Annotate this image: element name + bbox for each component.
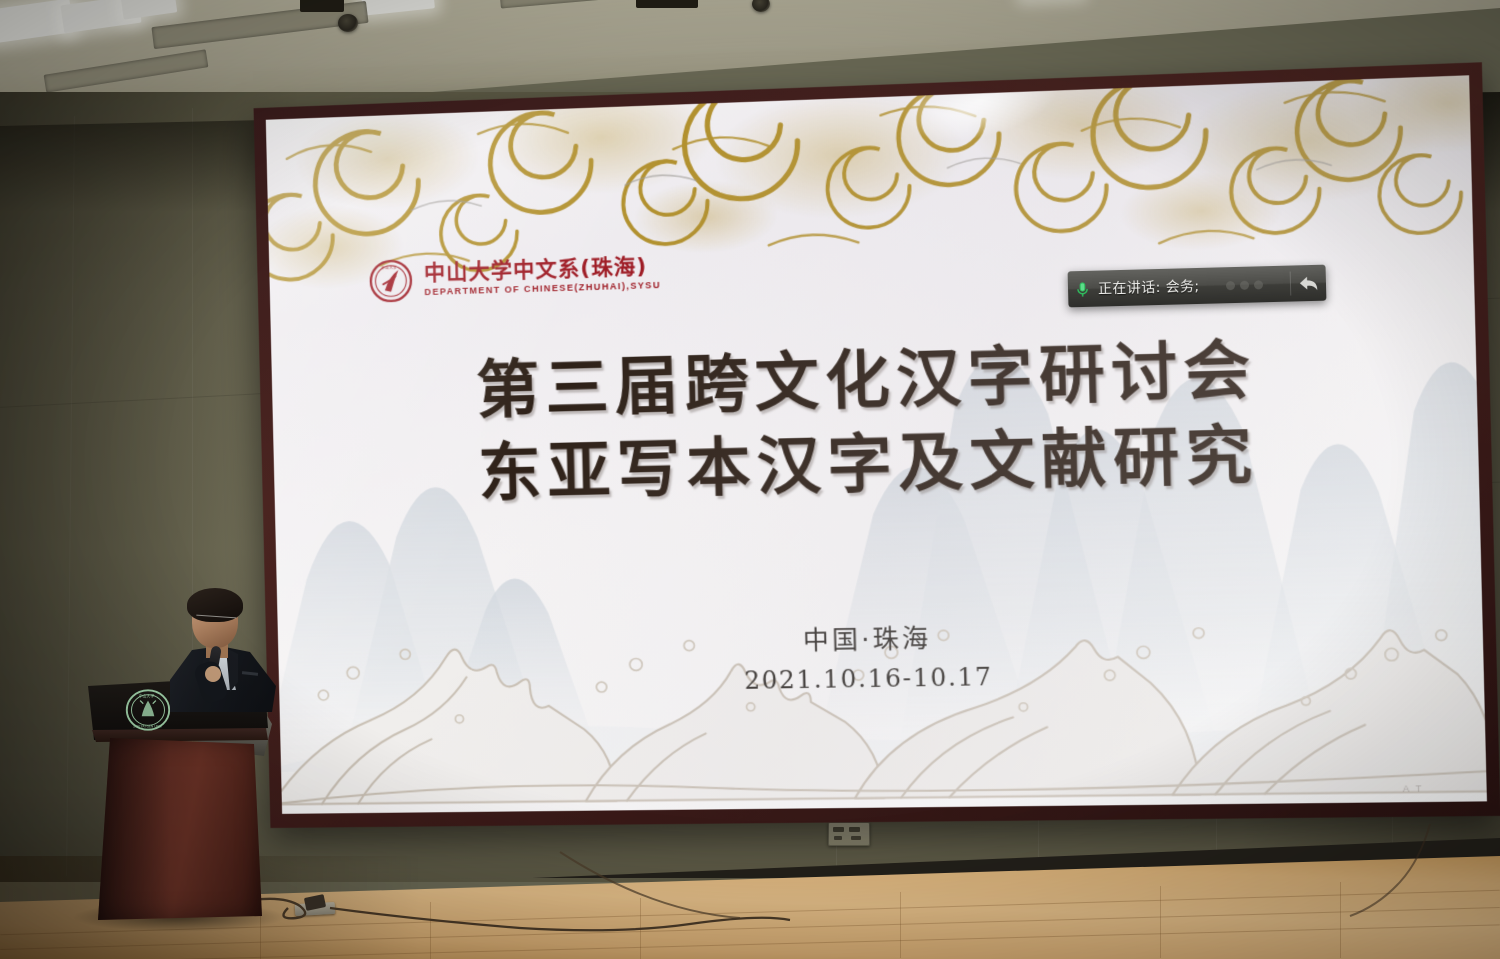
screen-edge-text: A T (1403, 783, 1424, 794)
ceiling-vent (44, 49, 209, 92)
speaking-status-bar[interactable]: 正在讲话: 会务; (1068, 265, 1327, 308)
slide-surface: 中山大学 中山大学中文系(珠海) DEPARTMENT OF CHINESE(Z… (266, 75, 1487, 814)
microphone-icon (1074, 280, 1091, 297)
svg-text:中山大学: 中山大学 (381, 265, 397, 271)
overlay-dots (1206, 279, 1283, 290)
reply-arrow-icon[interactable] (1298, 273, 1321, 294)
ceiling-spotlight (752, 0, 770, 12)
ceiling-vent (500, 0, 651, 9)
ceiling-light (121, 0, 178, 20)
overlay-divider (1290, 272, 1292, 296)
projection-screen: 中山大学 中山大学中文系(珠海) DEPARTMENT OF CHINESE(Z… (254, 62, 1500, 828)
slide-title-block: 第三届跨文化汉字研讨会 东亚写本汉字及文献研究 (271, 322, 1479, 519)
ceiling-recess (636, 0, 698, 8)
ceiling-spotlight (338, 14, 358, 32)
sysu-seal-icon: 中山大学 (367, 257, 414, 305)
slide-logo-cn: 中山大学中文系(珠海) (424, 256, 661, 285)
svg-text:SUN YAT-SEN UNIV: SUN YAT-SEN UNIV (133, 724, 163, 728)
ceiling-recess (300, 0, 344, 12)
speaking-status-text: 正在讲话: 会务; (1098, 276, 1200, 299)
podium-body-shading (94, 738, 170, 920)
screen-frame: 中山大学 中山大学中文系(珠海) DEPARTMENT OF CHINESE(Z… (254, 62, 1500, 828)
slide-logo: 中山大学 中山大学中文系(珠海) DEPARTMENT OF CHINESE(Z… (367, 250, 661, 305)
gold-cloud-pattern (266, 75, 1475, 348)
podium: 中山大学 SUN YAT-SEN UNIV (86, 676, 272, 920)
conference-hall-photo: 中山大学 中山大学中文系(珠海) DEPARTMENT OF CHINESE(Z… (0, 0, 1500, 959)
presenter-hand (205, 666, 221, 682)
ceiling-light (361, 0, 435, 16)
presenter (150, 590, 282, 710)
